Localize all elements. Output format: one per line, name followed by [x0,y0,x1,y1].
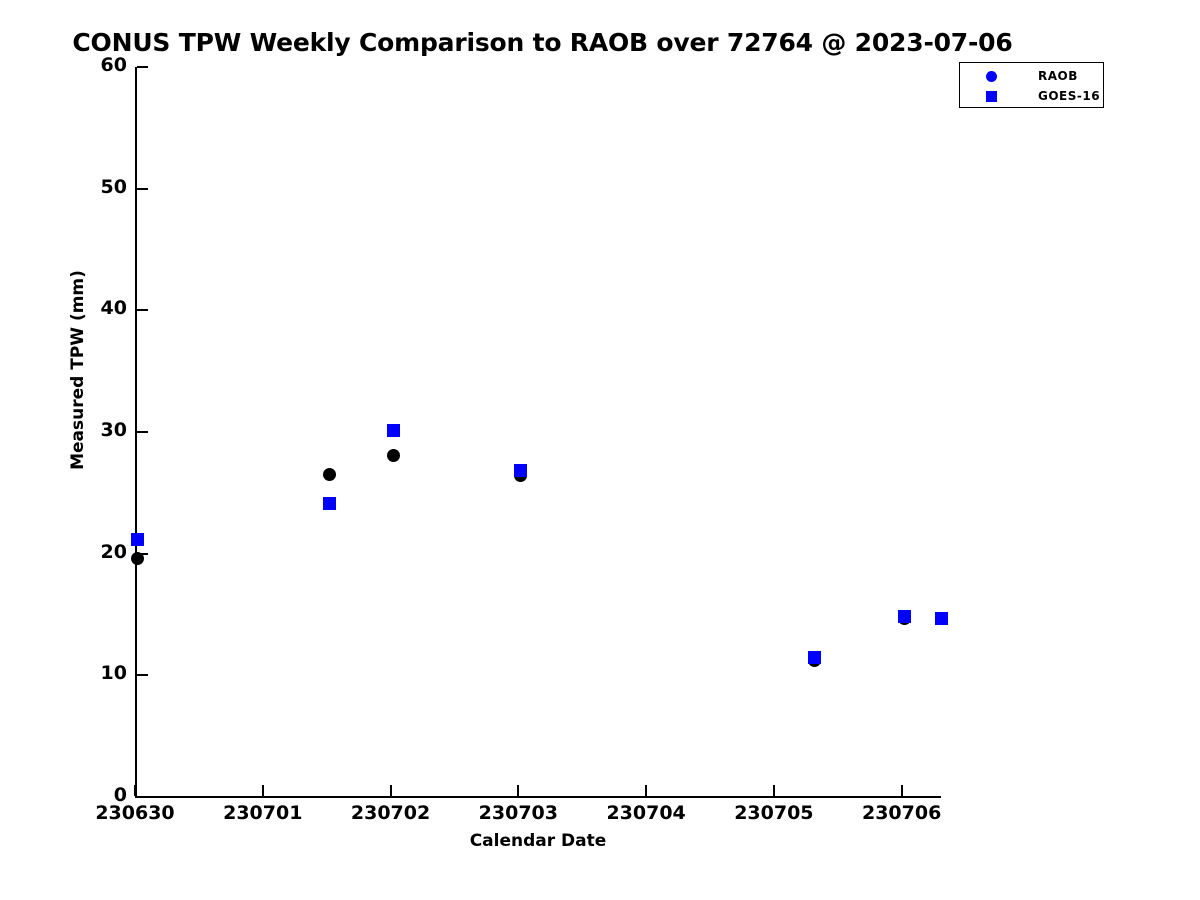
legend-entry: RAOB [960,66,1103,86]
data-point-raob [323,468,336,481]
chart-figure: CONUS TPW Weekly Comparison to RAOB over… [0,0,1200,900]
y-axis-tick [137,188,148,190]
x-axis-tick [645,785,647,796]
data-point-goes-16 [898,610,911,623]
data-point-goes-16 [514,464,527,477]
x-axis-tick [134,785,136,796]
data-point-raob [387,449,400,462]
chart-legend: RAOBGOES-16 [959,62,1104,108]
y-axis-label: Measured TPW (mm) [68,220,88,520]
plot-area [135,67,940,797]
legend-marker-circle-icon [977,66,1007,86]
x-axis-tick-label: 230706 [822,802,982,824]
y-axis-tick [137,66,148,68]
data-point-goes-16 [131,533,144,546]
y-axis-tick-label: 50 [57,176,127,198]
legend-label: RAOB [1038,69,1078,83]
x-axis-tick [390,785,392,796]
data-point-raob [131,552,144,565]
y-axis-tick [137,796,148,798]
legend-swatch [986,91,997,102]
data-point-goes-16 [387,424,400,437]
legend-label: GOES-16 [1038,89,1100,103]
y-axis-tick-label: 60 [57,54,127,76]
legend-entry: GOES-16 [960,86,1103,106]
y-axis-tick-label: 20 [57,541,127,563]
chart-title: CONUS TPW Weekly Comparison to RAOB over… [0,28,1085,57]
x-axis-label: Calendar Date [135,831,941,851]
y-axis-tick [137,309,148,311]
x-axis-tick [517,785,519,796]
y-axis-tick-label: 10 [57,662,127,684]
data-point-goes-16 [935,612,948,625]
legend-marker-square-icon [977,86,1007,106]
data-point-goes-16 [808,651,821,664]
x-axis-tick [262,785,264,796]
data-point-goes-16 [323,497,336,510]
legend-swatch [986,71,997,82]
y-axis-tick [137,674,148,676]
y-axis-tick [137,431,148,433]
x-axis-tick [901,785,903,796]
x-axis-tick [773,785,775,796]
